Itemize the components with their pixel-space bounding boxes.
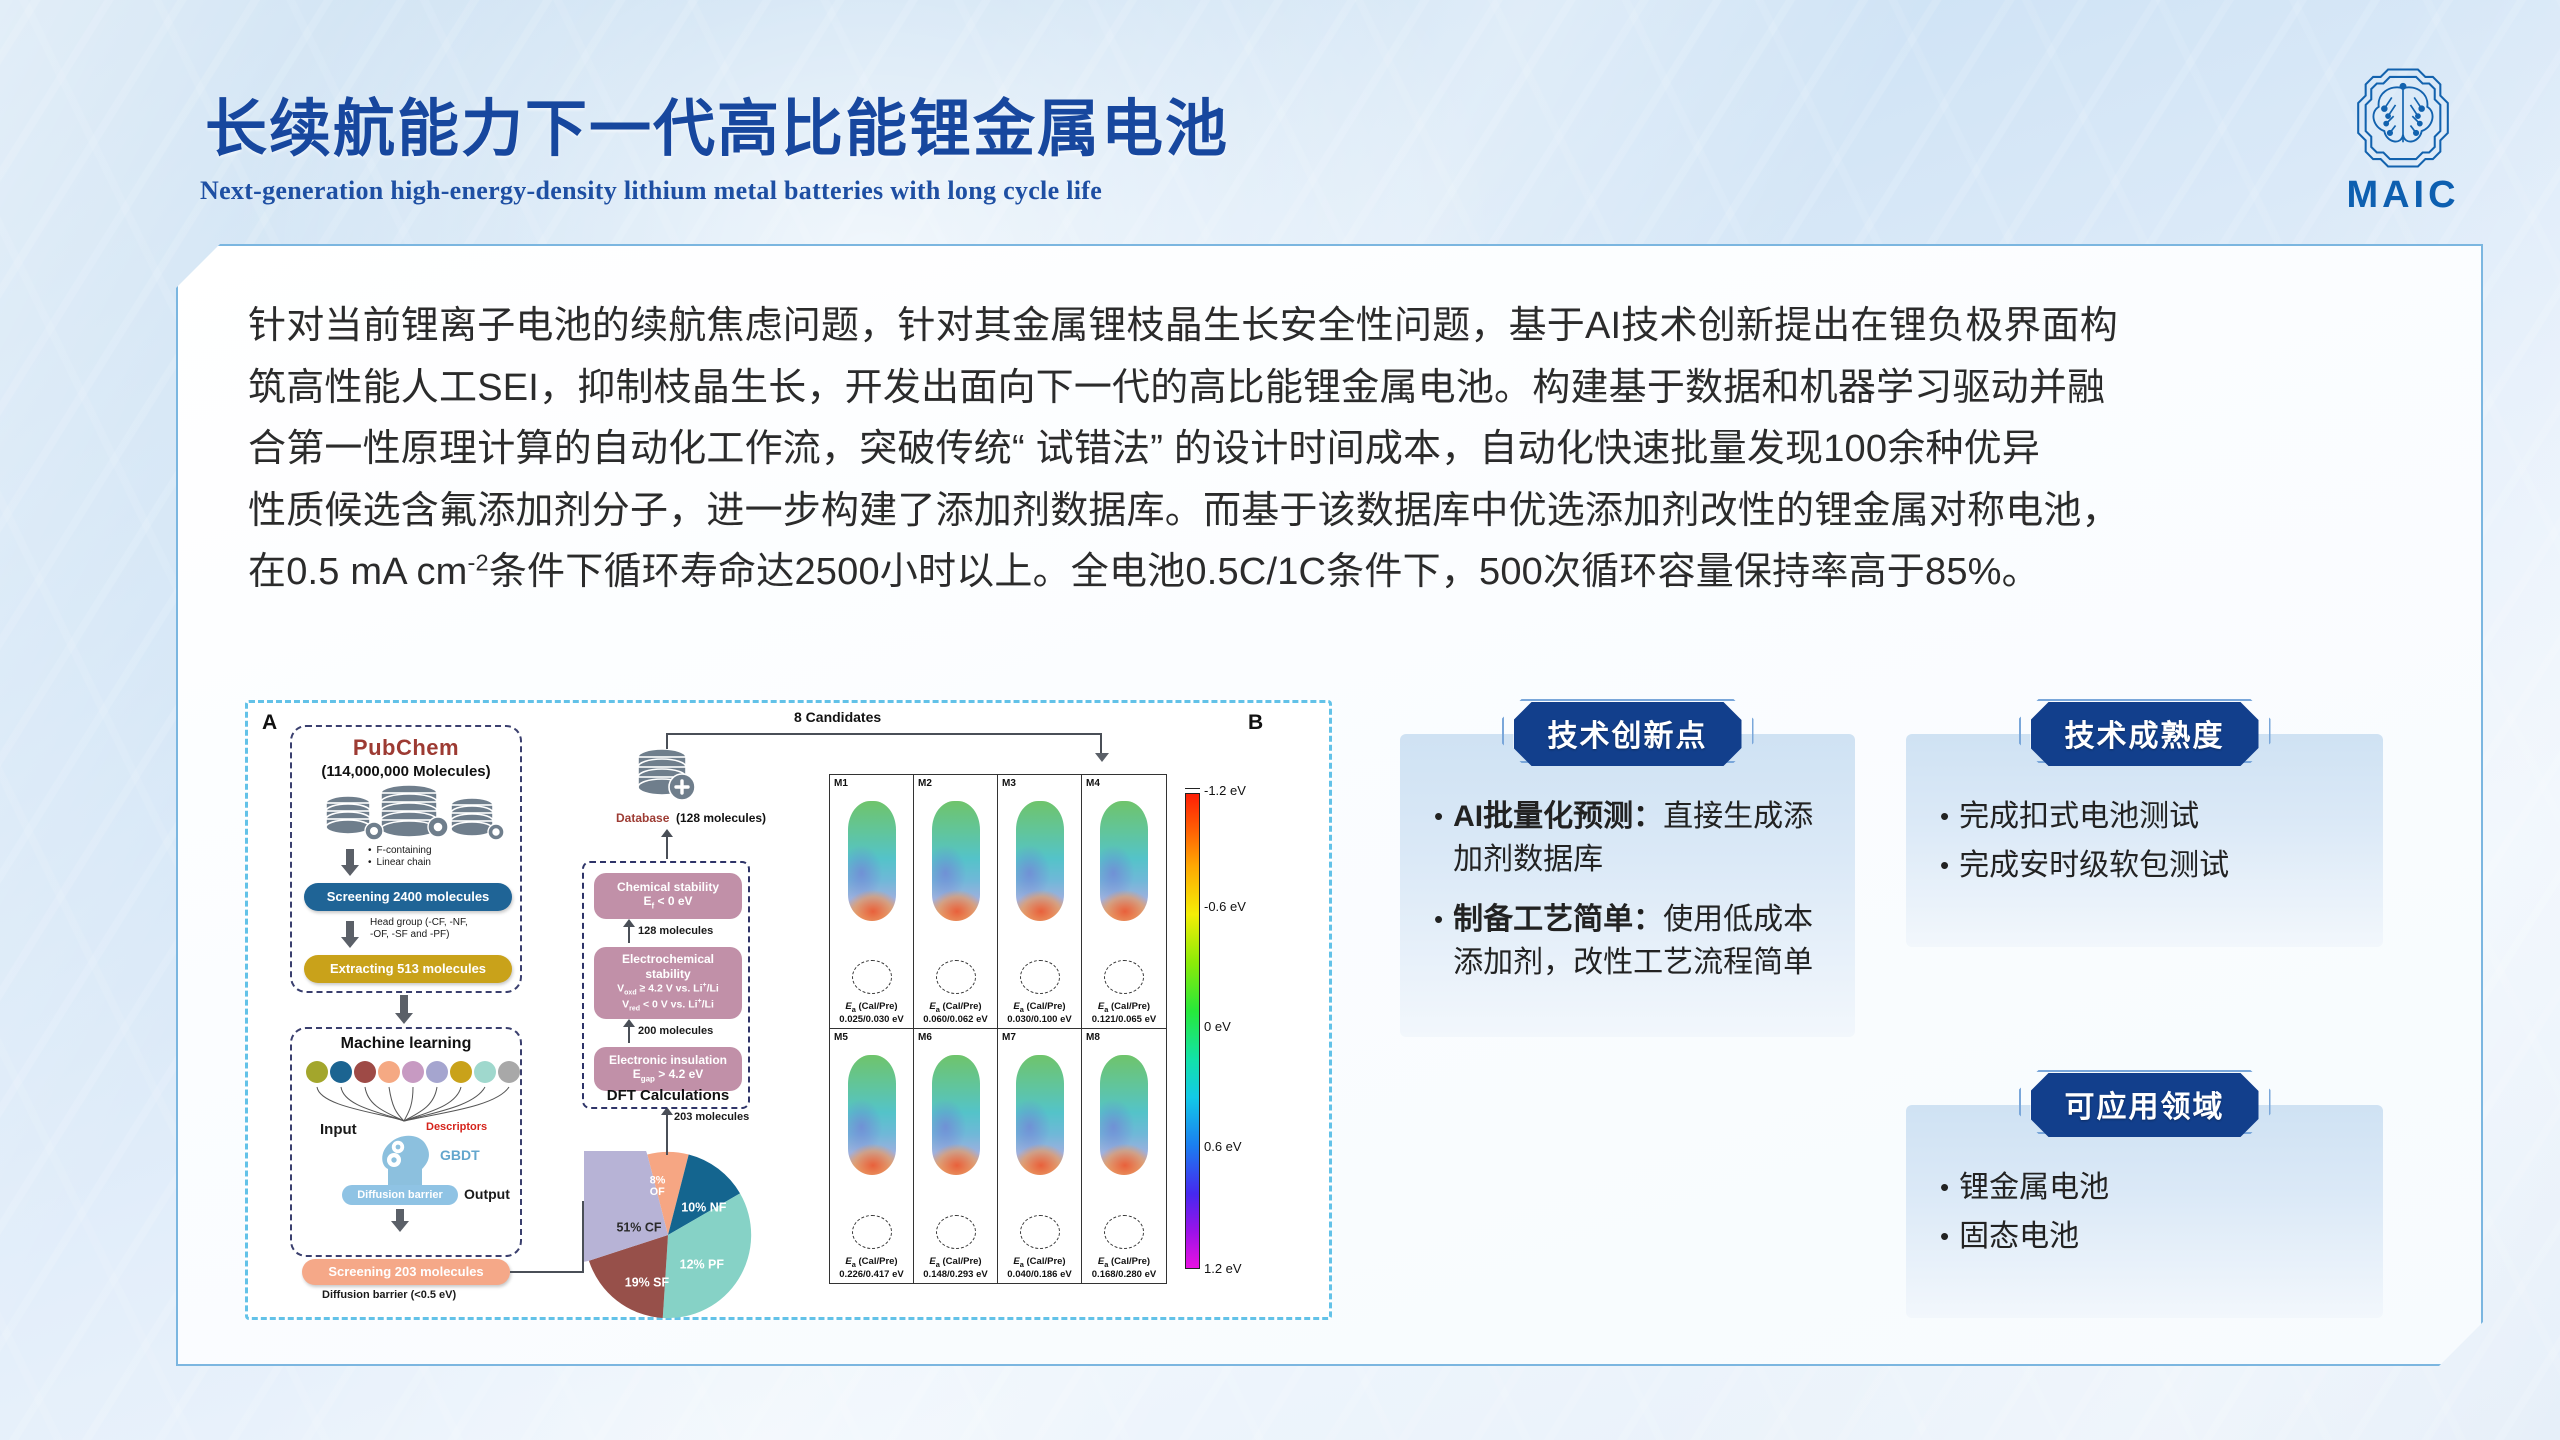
logo: MAIC — [2318, 62, 2488, 214]
svg-text:19% SF: 19% SF — [625, 1276, 670, 1290]
page-title: 长续航能力下一代高比能锂金属电池 — [205, 78, 1229, 168]
panel-b-label: B — [1248, 711, 1263, 735]
dft-calculations-label: DFT Calculations — [584, 1087, 752, 1104]
molecule-name: M1 — [834, 778, 848, 789]
diffusion-barrier-chip: Diffusion barrier — [342, 1185, 458, 1205]
connector-line — [628, 1025, 630, 1043]
molecule-grid: M1 Ea (Cal/Pre) 0.025/0.030 eV M2 Ea (Ca… — [829, 774, 1167, 1284]
summary-line-5: 在0.5 mA cm-2条件下循环寿命达2500小时以上。全电池0.5C/1C条… — [248, 542, 2438, 604]
card-list: • 完成扣式电池测试 • 完成安时级软包测试 — [1940, 796, 2361, 893]
electrochemical-stability-chip: Electrochemical stability Voxd ≥ 4.2 V v… — [594, 947, 742, 1019]
molecule-cell: M4 Ea (Cal/Pre) 0.121/0.065 eV — [1082, 775, 1166, 1029]
gbdt-label: GBDT — [440, 1147, 480, 1163]
arrow-head-down — [341, 865, 359, 876]
list-item: • 完成安时级软包测试 — [1940, 845, 2361, 888]
chemical-stability-chip: Chemical stability Ef < 0 eV — [594, 873, 742, 919]
molecule-name: M8 — [1086, 1032, 1100, 1043]
molecule-caption: Ea (Cal/Pre) 0.025/0.030 eV — [830, 1001, 913, 1026]
molecule-caption: Ea (Cal/Pre) 0.168/0.280 eV — [1082, 1256, 1166, 1281]
card-list: • 锂金属电池 • 固态电池 — [1940, 1167, 2361, 1264]
molecule-cell: M8 Ea (Cal/Pre) 0.168/0.280 eV — [1082, 1029, 1166, 1283]
summary-line-1: 针对当前锂离子电池的续航焦虑问题，针对其金属锂枝晶生长安全性问题，基于AI技术创… — [248, 296, 2438, 358]
list-item-text: 锂金属电池 — [1959, 1167, 2361, 1210]
figure-panel: A B PubChem (114,000,000 Molecules) — [245, 700, 1332, 1320]
arrow-head-down-3 — [395, 1013, 413, 1024]
molecule-cell: M2 Ea (Cal/Pre) 0.060/0.062 eV — [914, 775, 998, 1029]
colorbar-label: 0.6 eV — [1204, 1139, 1242, 1154]
highlight-circle — [936, 1215, 976, 1249]
extracting-513-chip: Extracting 513 molecules — [304, 955, 512, 983]
molecule-caption: Ea (Cal/Pre) 0.060/0.062 eV — [914, 1001, 997, 1026]
database-label: Database — [616, 811, 669, 825]
molecule-surface — [932, 1055, 980, 1175]
pubchem-title: PubChem — [292, 735, 520, 761]
bullet-icon: • — [1940, 796, 1949, 836]
card-maturity: 技术成熟度 • 完成扣式电池测试 • 完成安时级软包测试 — [1906, 734, 2383, 947]
arrow-head-up — [623, 1019, 635, 1027]
svg-text:12% PF: 12% PF — [680, 1257, 725, 1271]
bullet-icon: • — [1940, 1216, 1949, 1256]
list-item-text: 完成安时级软包测试 — [1959, 845, 2361, 888]
molecule-cell: M3 Ea (Cal/Pre) 0.030/0.100 eV — [998, 775, 1082, 1029]
pubchem-subtitle: (114,000,000 Molecules) — [292, 763, 520, 780]
bullet-icon: • — [1940, 1167, 1949, 1207]
molecule-cell: M6 Ea (Cal/Pre) 0.148/0.293 eV — [914, 1029, 998, 1283]
summary-line-4: 性质候选含氟添加剂分子，进一步构建了添加剂数据库。而基于该数据库中优选添加剂改性… — [248, 481, 2438, 543]
bullet-icon: • — [1434, 796, 1443, 836]
card-list: • AI批量化预测：直接生成添加剂数据库 • 制备工艺简单：使用低成本添加剂，改… — [1434, 796, 1833, 990]
output-label: Output — [464, 1186, 510, 1204]
molecule-surface — [932, 801, 980, 921]
screening-2400-chip: Screening 2400 molecules — [304, 883, 512, 911]
highlight-circle — [852, 960, 892, 994]
highlight-circle — [936, 960, 976, 994]
database-plus-icon — [630, 745, 704, 811]
svg-text:10% NF: 10% NF — [681, 1201, 726, 1215]
summary-line-3: 合第一性原理计算的自动化工作流，突破传统“ 试错法” 的设计时间成本，自动化快速… — [248, 419, 2438, 481]
arrow-head-down-5 — [1095, 753, 1109, 762]
bullet-icon: • — [1434, 899, 1443, 939]
molecule-cell: M1 Ea (Cal/Pre) 0.025/0.030 eV — [830, 775, 914, 1029]
arrow-head-up — [623, 919, 635, 927]
molecule-cell: M5 Ea (Cal/Pre) 0.226/0.417 eV — [830, 1029, 914, 1283]
molecule-name: M7 — [1002, 1032, 1016, 1043]
card-badge-maturity: 技术成熟度 — [2031, 702, 2259, 766]
molecule-surface — [1016, 801, 1064, 921]
summary-line-5-b: 条件下循环寿命达2500小时以上。全电池0.5C/1C条件下，500次循环容量保… — [489, 551, 2040, 593]
card-badge-innovation: 技术创新点 — [1514, 702, 1742, 766]
molecule-name: M4 — [1086, 778, 1100, 789]
molecule-cell: M7 Ea (Cal/Pre) 0.040/0.186 eV — [998, 1029, 1082, 1283]
connector-line — [666, 733, 1102, 735]
dft-box: Chemical stability Ef < 0 eV 128 molecul… — [582, 861, 750, 1109]
list-item-text: 固态电池 — [1959, 1216, 2361, 1259]
molecule-surface — [1016, 1055, 1064, 1175]
connector-line — [666, 733, 668, 749]
arrow-head-down-4 — [391, 1221, 409, 1232]
logo-text: MAIC — [2318, 176, 2488, 214]
input-label: Input — [320, 1121, 357, 1140]
molecule-surface — [848, 801, 896, 921]
arrow-head-down-2 — [341, 937, 359, 948]
molecule-name: M5 — [834, 1032, 848, 1043]
colorbar-tick — [1185, 789, 1200, 794]
screening-203-chip: Screening 203 molecules — [302, 1259, 510, 1285]
molecule-surface — [848, 1055, 896, 1175]
highlight-circle — [852, 1215, 892, 1249]
arrow-shaft-3 — [400, 995, 408, 1015]
ml-head-icon — [376, 1129, 448, 1191]
list-item: • 制备工艺简单：使用低成本添加剂，改性工艺流程简单 — [1434, 899, 1833, 984]
list-item: • 锂金属电池 — [1940, 1167, 2361, 1210]
list-item-bold: 制备工艺简单： — [1453, 903, 1663, 936]
molecule-caption: Ea (Cal/Pre) 0.030/0.100 eV — [998, 1001, 1081, 1026]
highlight-circle — [1020, 960, 1060, 994]
molecule-caption: Ea (Cal/Pre) 0.148/0.293 eV — [914, 1256, 997, 1281]
count-200: 200 molecules — [638, 1025, 713, 1038]
colorbar-label: 1.2 eV — [1204, 1261, 1242, 1276]
list-item-text: 完成扣式电池测试 — [1959, 796, 2361, 839]
colorbar-label: -1.2 eV — [1204, 783, 1246, 798]
molecule-name: M3 — [1002, 778, 1016, 789]
list-item: • 完成扣式电池测试 — [1940, 796, 2361, 839]
head-group-pie-chart: 51% CF 19% SF 12% PF 10% NF 8% OF — [584, 1151, 752, 1319]
database-count: (128 molecules) — [676, 811, 766, 825]
svg-text:OF: OF — [650, 1186, 665, 1198]
header: 长续航能力下一代高比能锂金属电池 Next-generation high-en… — [0, 0, 2560, 230]
highlight-circle — [1104, 960, 1144, 994]
candidates-label: 8 Candidates — [794, 709, 881, 725]
list-item: • AI批量化预测：直接生成添加剂数据库 — [1434, 796, 1833, 881]
colorbar-label: -0.6 eV — [1204, 899, 1246, 914]
summary-line-5-sup: -2 — [468, 550, 489, 576]
diffusion-barrier-note: Diffusion barrier (<0.5 eV) — [322, 1289, 456, 1302]
panel-a-label: A — [262, 711, 277, 735]
molecule-caption: Ea (Cal/Pre) 0.121/0.065 eV — [1082, 1001, 1166, 1026]
arrow-head-up — [661, 829, 673, 837]
colorbar-tick — [1185, 1268, 1200, 1273]
svg-text:51% CF: 51% CF — [616, 1221, 661, 1235]
filter-criteria-1: •F-containing •Linear chain — [368, 845, 432, 869]
count-203: 203 molecules — [674, 1111, 749, 1124]
database-stack-icon — [314, 785, 504, 847]
highlight-circle — [1104, 1215, 1144, 1249]
colorbar-label: 0 eV — [1204, 1019, 1231, 1034]
list-item-bold: AI批量化预测： — [1453, 800, 1663, 833]
molecule-name: M2 — [918, 778, 932, 789]
head-group-note: Head group (-CF, -NF, -OF, -SF and -PF) — [370, 917, 510, 941]
count-128: 128 molecules — [638, 925, 713, 938]
maic-brain-circuit-icon — [2347, 62, 2459, 174]
machine-learning-box: Machine learning Input Descriptors — [290, 1027, 522, 1257]
esp-colorbar — [1185, 788, 1200, 1272]
connector-line — [510, 1271, 584, 1273]
summary-line-5-a: 在0.5 mA cm — [248, 551, 468, 593]
connector-line — [1100, 733, 1102, 755]
neuron-connections — [292, 1079, 524, 1125]
machine-learning-title: Machine learning — [292, 1035, 520, 1053]
bullet-icon: • — [1940, 845, 1949, 885]
summary-paragraph: 针对当前锂离子电池的续航焦虑问题，针对其金属锂枝晶生长安全性问题，基于AI技术创… — [248, 296, 2438, 604]
highlight-circle — [1020, 1215, 1060, 1249]
molecule-name: M6 — [918, 1032, 932, 1043]
summary-line-2: 筑高性能人工SEI，抑制枝晶生长，开发出面向下一代的高比能锂金属电池。构建基于数… — [248, 358, 2438, 420]
page-subtitle: Next-generation high-energy-density lith… — [200, 176, 1102, 206]
electronic-insulation-chip: Electronic insulation Egap > 4.2 eV — [594, 1047, 742, 1091]
molecule-caption: Ea (Cal/Pre) 0.226/0.417 eV — [830, 1256, 913, 1281]
card-applications: 可应用领域 • 锂金属电池 • 固态电池 — [1906, 1105, 2383, 1318]
svg-text:8%: 8% — [650, 1174, 666, 1186]
molecule-surface — [1100, 801, 1148, 921]
connector-line — [628, 925, 630, 943]
pubchem-box: PubChem (114,000,000 Molecules) — [290, 725, 522, 993]
connector-line — [666, 835, 668, 859]
molecule-caption: Ea (Cal/Pre) 0.040/0.186 eV — [998, 1256, 1081, 1281]
list-item: • 固态电池 — [1940, 1216, 2361, 1259]
card-innovation: 技术创新点 • AI批量化预测：直接生成添加剂数据库 • 制备工艺简单：使用低成… — [1400, 734, 1855, 1037]
molecule-surface — [1100, 1055, 1148, 1175]
card-badge-applications: 可应用领域 — [2031, 1073, 2259, 1137]
connector-line — [666, 1115, 668, 1155]
